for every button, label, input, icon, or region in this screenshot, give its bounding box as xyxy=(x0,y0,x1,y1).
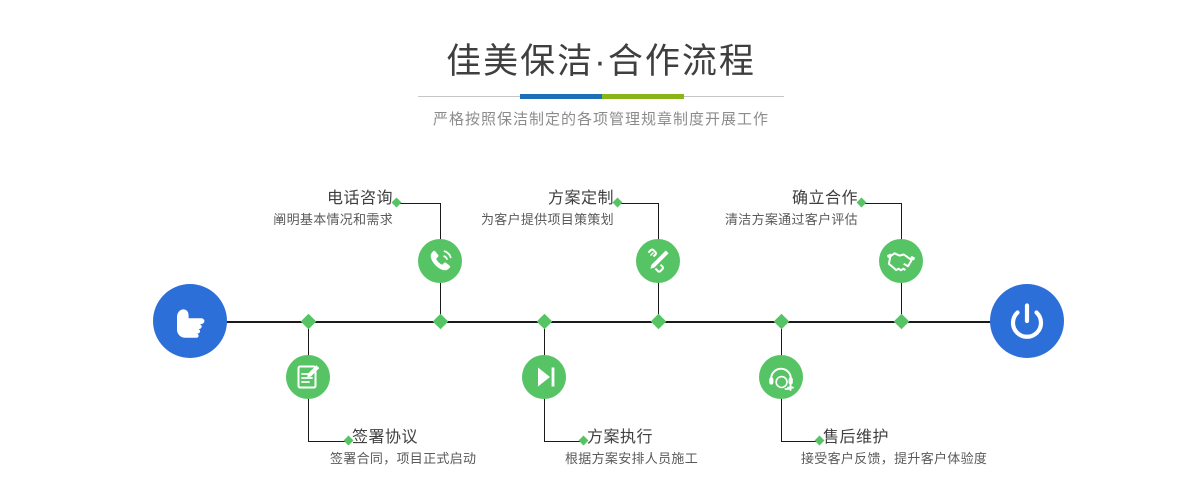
handshake-icon xyxy=(879,239,923,283)
step-3-connector-horizontal xyxy=(618,203,659,204)
play-execute-icon xyxy=(522,355,566,399)
step-1-tip-diamond xyxy=(392,198,402,208)
step-6-connector-horizontal xyxy=(781,441,819,442)
step-3-label: 方案定制 为客户提供项目策策划 xyxy=(458,188,614,230)
power-icon xyxy=(990,284,1064,358)
step-5-connector-horizontal xyxy=(862,203,902,204)
step-5-icon-circle[interactable] xyxy=(879,239,923,283)
step-2-title: 签署协议 xyxy=(352,427,476,449)
flow-diagram-page: 佳美保洁·合作流程 严格按照保洁制定的各项管理规章制度开展工作 xyxy=(0,0,1202,502)
step-5-title: 确立合作 xyxy=(700,188,858,210)
step-2-connector-horizontal xyxy=(308,441,348,442)
step-6-desc: 接受客户反馈，提升客户体验度 xyxy=(801,449,987,469)
step-3-title: 方案定制 xyxy=(458,188,614,210)
pointing-hand-icon xyxy=(153,284,227,358)
step-4-title: 方案执行 xyxy=(587,427,698,449)
step-6-icon-circle[interactable] xyxy=(759,355,803,399)
step-5-label: 确立合作 清洁方案通过客户评估 xyxy=(700,188,858,230)
step-5-axis-diamond xyxy=(894,314,910,330)
step-4-label: 方案执行 根据方案安排人员施工 xyxy=(587,427,698,469)
step-4-desc: 根据方案安排人员施工 xyxy=(565,449,698,469)
customer-support-icon xyxy=(759,355,803,399)
step-3-tip-diamond xyxy=(613,198,623,208)
document-edit-icon xyxy=(286,355,330,399)
step-2-desc: 签署合同，项目正式启动 xyxy=(330,449,476,469)
title-divider xyxy=(418,94,784,99)
step-1-icon-circle[interactable] xyxy=(418,239,462,283)
pencil-ruler-icon xyxy=(636,239,680,283)
step-2-label: 签署协议 签署合同，项目正式启动 xyxy=(352,427,476,469)
step-2-axis-diamond xyxy=(301,314,317,330)
step-1-desc: 阐明基本情况和需求 xyxy=(240,210,393,230)
step-3-desc: 为客户提供项目策策划 xyxy=(458,210,614,230)
divider-segment-blue xyxy=(520,94,602,99)
step-4-axis-diamond xyxy=(537,314,553,330)
step-1-title: 电话咨询 xyxy=(240,188,393,210)
step-1-connector-horizontal xyxy=(397,203,441,204)
step-1-label: 电话咨询 阐明基本情况和需求 xyxy=(240,188,393,230)
step-4-connector-horizontal xyxy=(544,441,583,442)
step-6-label: 售后维护 接受客户反馈，提升客户体验度 xyxy=(823,427,987,469)
end-endpoint[interactable] xyxy=(990,284,1064,358)
step-4-icon-circle[interactable] xyxy=(522,355,566,399)
step-5-tip-diamond xyxy=(857,198,867,208)
step-2-icon-circle[interactable] xyxy=(286,355,330,399)
step-6-axis-diamond xyxy=(774,314,790,330)
step-3-icon-circle[interactable] xyxy=(636,239,680,283)
step-1-axis-diamond xyxy=(433,314,449,330)
page-title: 佳美保洁·合作流程 xyxy=(0,44,1202,79)
step-5-desc: 清洁方案通过客户评估 xyxy=(700,210,858,230)
start-endpoint[interactable] xyxy=(153,284,227,358)
phone-call-icon xyxy=(418,239,462,283)
page-subtitle: 严格按照保洁制定的各项管理规章制度开展工作 xyxy=(0,108,1202,129)
step-6-title: 售后维护 xyxy=(823,427,987,449)
step-3-axis-diamond xyxy=(651,314,667,330)
divider-segment-green xyxy=(602,94,684,99)
